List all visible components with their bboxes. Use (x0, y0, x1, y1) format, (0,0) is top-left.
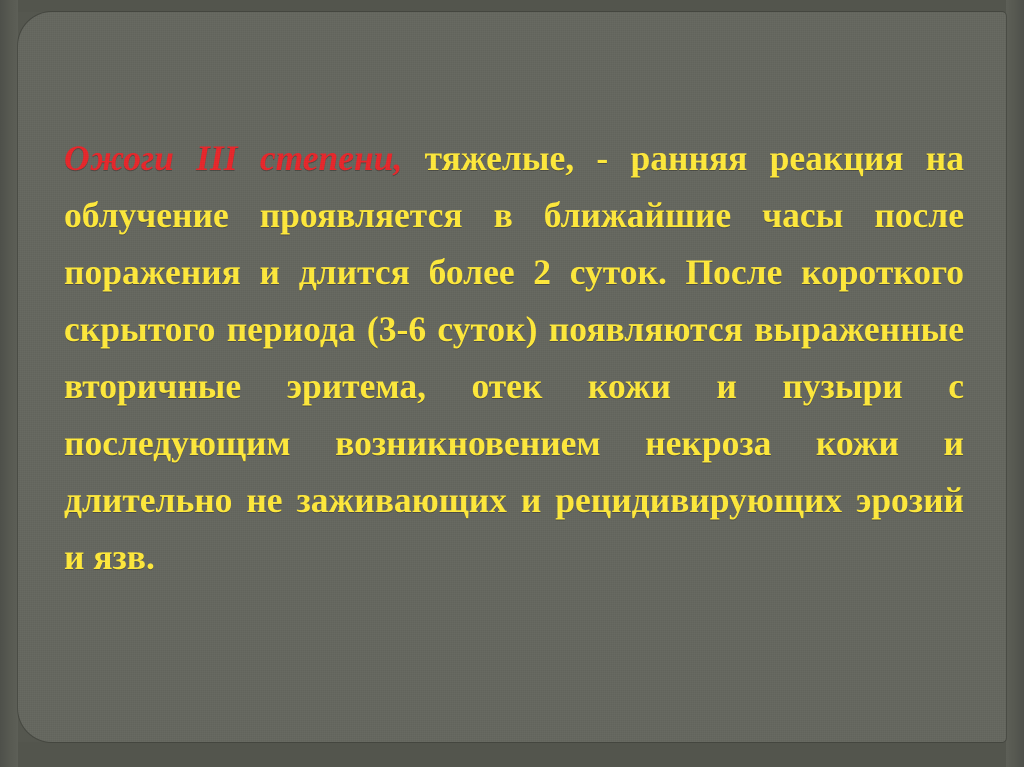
slide: Ожоги III степени, тяжелые, - ранняя реа… (0, 0, 1024, 767)
frame-edge-top (0, 0, 1024, 12)
frame-edge-bottom (0, 742, 1024, 767)
body-paragraph: тяжелые, - ранняя реакция на облучение п… (64, 138, 964, 577)
frame-edge-left (0, 0, 18, 767)
frame-edge-right (1006, 0, 1024, 767)
lead-phrase: Ожоги III степени, (64, 138, 402, 178)
slide-body-text: Ожоги III степени, тяжелые, - ранняя реа… (64, 130, 964, 586)
content-panel: Ожоги III степени, тяжелые, - ранняя реа… (18, 12, 1006, 742)
